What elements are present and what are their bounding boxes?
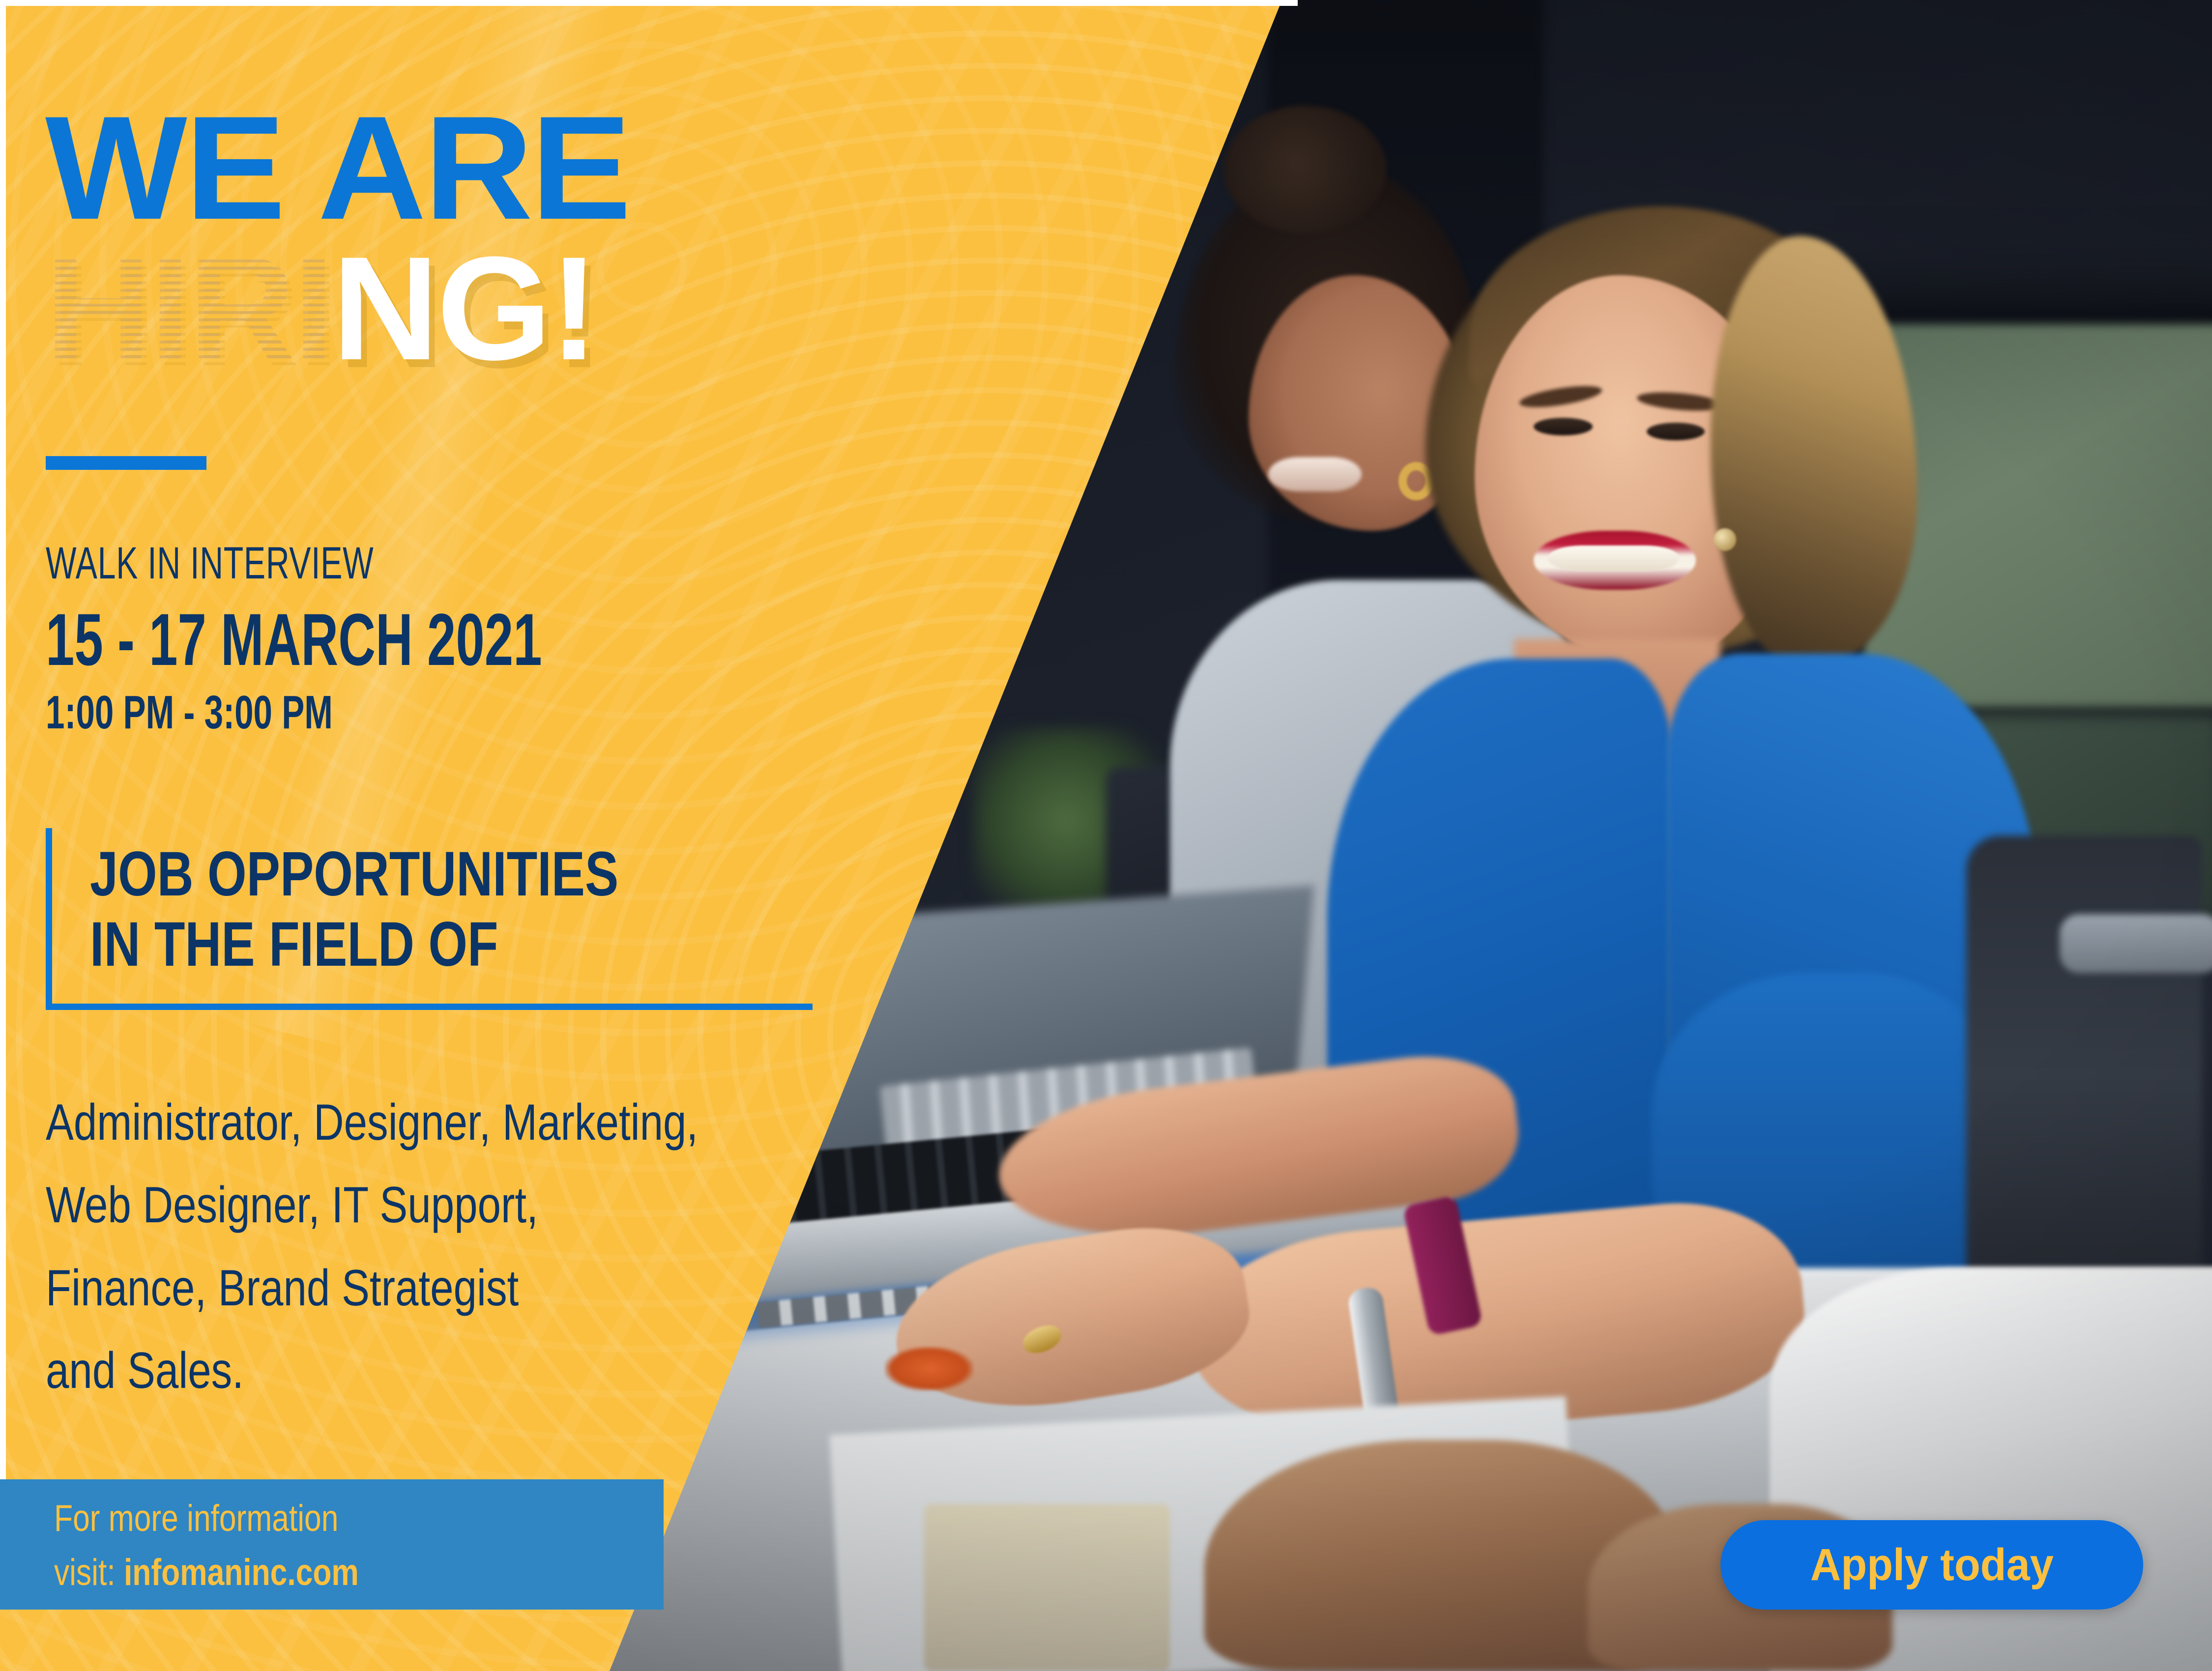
roles-line-1: Administrator, Designer, Marketing,	[46, 1081, 699, 1164]
hiring-poster: WE ARE HIRING! WALK IN INTERVIEW 15 - 17…	[0, 0, 2212, 1671]
headline-block: WE ARE HIRING!	[45, 98, 979, 377]
event-time: 1:00 PM - 3:00 PM	[46, 689, 556, 736]
event-dates: 15 - 17 MARCH 2021	[46, 603, 542, 676]
top-white-margin	[0, 0, 1298, 6]
roles-line-3: Finance, Brand Strategist	[46, 1247, 699, 1329]
contact-footer-bar: For more information visit: infomaninc.c…	[0, 1479, 664, 1610]
bracket-vertical-rule	[46, 828, 52, 1009]
roles-list: Administrator, Designer, Marketing, Web …	[46, 1081, 699, 1412]
headline-we-are: WE ARE	[45, 98, 998, 237]
job-opportunities-heading-line1: JOB OPPORTUNITIES	[90, 839, 618, 909]
footer-website-link[interactable]: infomaninc.com	[124, 1552, 359, 1593]
left-white-margin	[0, 0, 6, 1479]
job-opportunities-heading-block: JOB OPPORTUNITIES IN THE FIELD OF	[46, 828, 813, 1010]
headline-hiring-textured: HIRI	[45, 226, 332, 391]
footer-visit-line: visit: infomaninc.com	[54, 1554, 359, 1591]
apply-today-button-label: Apply today	[1810, 1542, 2054, 1587]
headline-underline-rule	[46, 456, 206, 470]
headline-hiring-solid: NG!	[332, 226, 597, 391]
apply-today-button[interactable]: Apply today	[1720, 1520, 2143, 1610]
footer-info-line: For more information	[54, 1500, 338, 1537]
event-details-block: WALK IN INTERVIEW 15 - 17 MARCH 2021 1:0…	[46, 541, 755, 736]
job-opportunities-heading-line2: IN THE FIELD OF	[90, 909, 618, 980]
job-opportunities-heading: JOB OPPORTUNITIES IN THE FIELD OF	[90, 839, 618, 980]
event-kicker: WALK IN INTERVIEW	[46, 541, 556, 586]
roles-line-2: Web Designer, IT Support,	[46, 1164, 699, 1246]
headline-hiring: HIRING!	[45, 239, 979, 377]
roles-line-4: and Sales.	[46, 1329, 699, 1412]
bracket-horizontal-rule	[46, 1004, 813, 1010]
footer-visit-label: visit:	[54, 1552, 116, 1593]
